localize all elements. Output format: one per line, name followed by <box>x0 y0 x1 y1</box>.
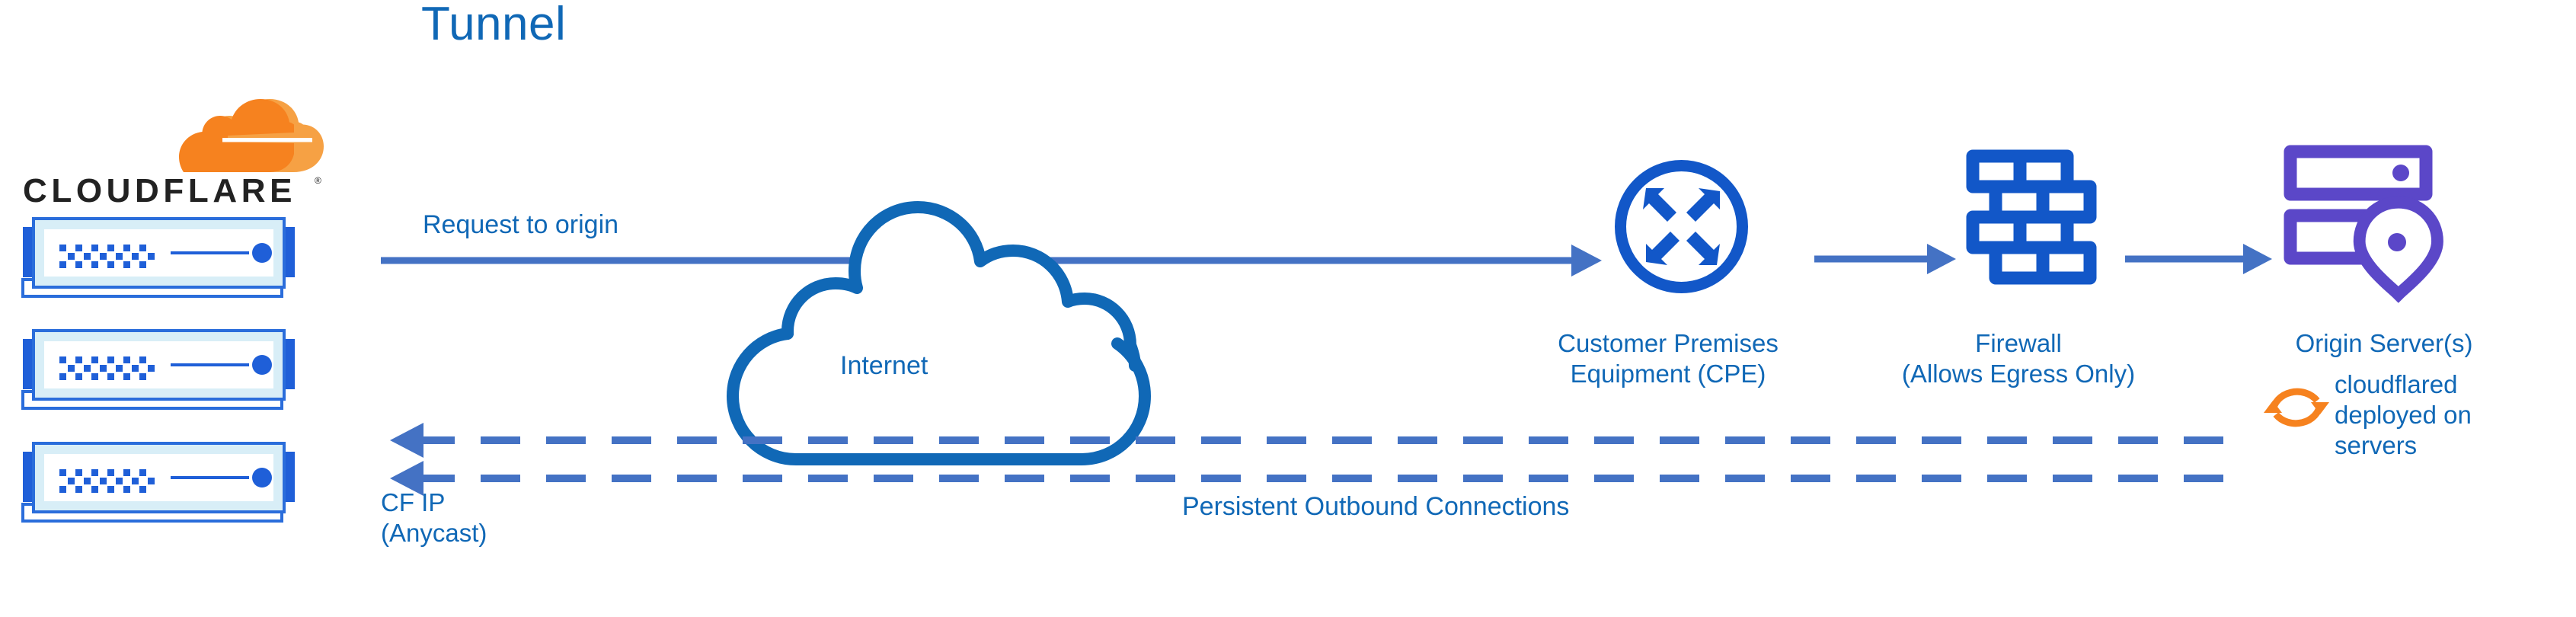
cf-ip-anycast-label: CF IP (Anycast) <box>381 488 487 548</box>
cpe-label-line2: Equipment (CPE) <box>1501 359 1836 389</box>
refresh-circular-arrows-icon <box>2262 373 2331 442</box>
firewall-to-origin-arrow <box>2125 244 2272 274</box>
cloud-icon <box>710 207 1145 459</box>
location-pin-icon <box>2360 203 2437 295</box>
internet-label: Internet <box>840 350 928 381</box>
tunnel-diagram: Tunnel CLOUDFLARE ® <box>0 0 2576 617</box>
origin-servers-label: Origin Server(s) <box>2232 328 2536 359</box>
tunnel-dashed-upper <box>390 423 2241 458</box>
cloudflared-line3: servers <box>2335 430 2525 461</box>
four-arrows-circle-icon <box>1611 156 1752 297</box>
cloudflared-deployed-label: cloudflared deployed on servers <box>2335 369 2525 461</box>
server-location-pin-icon <box>2281 141 2445 305</box>
origin-servers-label-text: Origin Server(s) <box>2232 328 2536 359</box>
cpe-label: Customer Premises Equipment (CPE) <box>1501 328 1836 389</box>
firewall-label: Firewall (Allows Egress Only) <box>1851 328 2186 389</box>
cpe-to-firewall-arrow <box>1814 244 1956 274</box>
firewall-label-line2: (Allows Egress Only) <box>1851 359 2186 389</box>
brick-wall-icon <box>1965 149 2110 301</box>
cf-ip-line2: (Anycast) <box>381 518 487 548</box>
cloudflared-line2: deployed on <box>2335 400 2525 430</box>
cpe-label-line1: Customer Premises <box>1501 328 1836 359</box>
persistent-outbound-connections-label: Persistent Outbound Connections <box>1182 491 1569 522</box>
firewall-label-line1: Firewall <box>1851 328 2186 359</box>
cloudflared-line1: cloudflared <box>2335 369 2525 400</box>
request-to-origin-label: Request to origin <box>423 209 618 240</box>
cf-ip-line1: CF IP <box>381 488 487 518</box>
